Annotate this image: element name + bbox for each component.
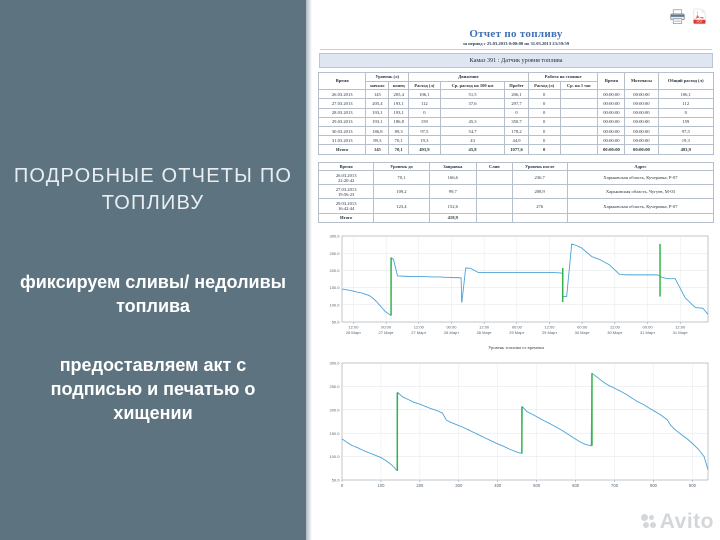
table-cell: 0 — [528, 126, 560, 135]
table-cell — [374, 213, 429, 222]
table-cell — [560, 90, 598, 99]
col-idle-time: Время — [598, 73, 625, 90]
table-cell: 29.03.201316:42:44 — [319, 199, 374, 213]
col-2: конец — [389, 81, 409, 90]
table-row: 27.03.2013205,4193,111237,6297,7000:00:0… — [319, 99, 714, 108]
svg-text:700: 700 — [611, 483, 619, 488]
table-cell: 97,5 — [408, 126, 440, 135]
svg-text:400: 400 — [494, 483, 502, 488]
svg-text:12:00: 12:00 — [675, 324, 686, 329]
svg-text:00:00: 00:00 — [446, 324, 457, 329]
table-cell: 51,5 — [440, 90, 505, 99]
table-cell: Харьковская область, Чугуев, М-03 — [567, 185, 713, 199]
table-cell: 152,6 — [429, 199, 476, 213]
table-cell — [476, 185, 512, 199]
column-header: Заправка — [429, 162, 476, 171]
table-cell: 106,1 — [658, 90, 713, 99]
table-cell: Харьковская область, Кучеровка, Р-07 — [567, 171, 713, 185]
refuel-events-table: ВремяУровень доЗаправкаСливУровень после… — [318, 162, 714, 223]
table-cell: 0 — [505, 108, 528, 117]
table-cell — [560, 108, 598, 117]
table-head: ВремяУровень доЗаправкаСливУровень после… — [319, 162, 714, 171]
table-cell: 70,1 — [389, 136, 409, 145]
table-cell: 44,9 — [505, 136, 528, 145]
table-cell: 112 — [658, 99, 713, 108]
svg-text:PDF: PDF — [697, 19, 703, 23]
svg-text:900: 900 — [689, 483, 697, 488]
table-cell: 166,6 — [429, 171, 476, 185]
fuel-level-time-chart: 50.0100.0150.0200.0250.0300.012:0026 Мар… — [318, 232, 714, 350]
svg-text:27 Март: 27 Март — [411, 330, 426, 335]
table-cell — [560, 145, 598, 154]
table-cell: 0 — [528, 108, 560, 117]
table-cell — [560, 126, 598, 135]
svg-text:500: 500 — [533, 483, 541, 488]
table-body: 26.03.2013145205,4106,151,5206,1000:00:0… — [319, 90, 714, 154]
promo-heading: ПОДРОБНЫЕ ОТЧЕТЫ ПО ТОПЛИВУ — [8, 163, 298, 217]
svg-text:30 Март: 30 Март — [607, 330, 622, 335]
table-cell: 28.03.2013 — [319, 108, 366, 117]
table-cell: 0 — [408, 108, 440, 117]
svg-text:150.0: 150.0 — [329, 285, 340, 290]
table-cell: 297,7 — [505, 99, 528, 108]
table-cell: 493,9 — [658, 145, 713, 154]
svg-text:300.0: 300.0 — [329, 233, 340, 238]
table-cell — [476, 199, 512, 213]
svg-text:26 Март: 26 Март — [346, 330, 361, 335]
table-cell: 00:00:00 — [598, 117, 625, 126]
svg-text:28 Март: 28 Март — [444, 330, 459, 335]
table-cell: 70,1 — [389, 145, 409, 154]
column-header: Слив — [476, 162, 512, 171]
table-cell: 89,3 — [366, 136, 389, 145]
table-row: 31.03.201389,370,119,34344,9000:00:0000:… — [319, 136, 714, 145]
table-cell: 493,9 — [408, 145, 440, 154]
table-cell: 0 — [658, 108, 713, 117]
svg-text:200.0: 200.0 — [329, 268, 340, 273]
table-row: 28.03.2013193,1193,100000:00:0000:00:000 — [319, 108, 714, 117]
table-cell — [560, 99, 598, 108]
table-cell — [476, 213, 512, 222]
svg-text:27 Март: 27 Март — [379, 330, 394, 335]
svg-text:28 Март: 28 Март — [477, 330, 492, 335]
table-cell: 19,3 — [658, 136, 713, 145]
table-cell — [567, 213, 713, 222]
svg-text:00:00: 00:00 — [512, 324, 523, 329]
table-cell: 00:00:00 — [625, 117, 658, 126]
printer-icon[interactable] — [669, 8, 686, 25]
table-cell: 193,1 — [389, 108, 409, 117]
table-cell: 99,7 — [429, 185, 476, 199]
promo-panel: ПОДРОБНЫЕ ОТЧЕТЫ ПО ТОПЛИВУ фиксируем сл… — [0, 0, 306, 540]
table-cell: 350,7 — [505, 117, 528, 126]
svg-text:250.0: 250.0 — [329, 384, 340, 389]
table-cell: 89,3 — [389, 126, 409, 135]
table-cell: 205,4 — [389, 90, 409, 99]
svg-text:00:00: 00:00 — [381, 324, 392, 329]
table-cell: 159 — [658, 117, 713, 126]
table-cell: 29.03.2013 — [319, 117, 366, 126]
column-header-row: ВремяУровень доЗаправкаСливУровень после… — [319, 162, 714, 171]
table-cell: 27.03.2013 — [319, 99, 366, 108]
vehicle-band: Камаз 391 : Датчик уровня топлива — [319, 53, 713, 68]
promo-line-act: предоставляем акт с подписью и печатью о… — [13, 353, 293, 425]
table-cell: 276 — [512, 199, 567, 213]
svg-text:00:00: 00:00 — [577, 324, 588, 329]
col-time: Время — [319, 73, 366, 90]
table-cell: 106,1 — [408, 90, 440, 99]
svg-text:30 Март: 30 Март — [575, 330, 590, 335]
table-cell: 193,1 — [389, 99, 409, 108]
table-cell: 418,9 — [429, 213, 476, 222]
report-panel: PDF Отчет по топливу за период с 25.03.2… — [312, 0, 720, 540]
table-cell: 193,1 — [366, 117, 389, 126]
svg-text:300: 300 — [455, 483, 463, 488]
svg-text:100.0: 100.0 — [329, 302, 340, 307]
table-cell: Итого — [319, 213, 374, 222]
table-cell: 00:00:00 — [625, 108, 658, 117]
table-cell: Итого — [319, 145, 366, 154]
column-header: Время — [319, 162, 374, 171]
table-cell: 70,1 — [374, 171, 429, 185]
table-cell: 00:00:00 — [598, 108, 625, 117]
chart-canvas: 50.0100.0150.0200.0250.0300.012:0026 Мар… — [318, 232, 714, 344]
table-cell: 00:00:00 — [625, 99, 658, 108]
table-cell: 30.03.2013 — [319, 126, 366, 135]
table-cell: 145 — [366, 145, 389, 154]
svg-text:12:00: 12:00 — [348, 324, 359, 329]
table-cell: 27.03.201319:56:23 — [319, 185, 374, 199]
svg-text:800: 800 — [650, 483, 658, 488]
chart-canvas: 50.0100.0150.0200.0250.0300.001002003004… — [318, 359, 714, 494]
table-cell: 0 — [528, 117, 560, 126]
fuel-level-distance-chart: 50.0100.0150.0200.0250.0300.001002003004… — [318, 359, 714, 494]
table-row: 30.03.2013186,889,397,554,7178,2000:00:0… — [319, 126, 714, 135]
col-total-consumption: Общий расход (л) — [658, 73, 713, 90]
svg-text:29 Март: 29 Март — [542, 330, 557, 335]
svg-text:0: 0 — [341, 483, 344, 488]
table-cell — [512, 213, 567, 222]
report-subtitle: за период с 25.03.2013 0:00:00 по 31.03.… — [318, 41, 714, 46]
table-cell: 43 — [440, 136, 505, 145]
table-cell: Харьковская область, Кучеровка, Р-07 — [567, 199, 713, 213]
report-title: Отчет по топливу — [318, 28, 714, 40]
table-cell: 193,1 — [366, 108, 389, 117]
table-row: 27.03.201319:56:23109,299,7208,9Харьковс… — [319, 185, 714, 199]
table-cell: 00:00:00 — [598, 136, 625, 145]
svg-text:300.0: 300.0 — [329, 360, 340, 365]
table-cell: 0 — [528, 136, 560, 145]
table-cell: 206,1 — [505, 90, 528, 99]
group-idle: Работа на стоянке — [528, 73, 598, 82]
table-cell: 109,2 — [374, 185, 429, 199]
table-cell: 0 — [528, 145, 560, 154]
group-header-row: ВремяУровень (л)ДвижениеРабота на стоянк… — [319, 73, 714, 82]
table-body: 26.03.201322:20:4270,1166,6236,7Харьковс… — [319, 171, 714, 223]
table-cell: 145 — [366, 90, 389, 99]
table-cell: 123,4 — [374, 199, 429, 213]
svg-text:200: 200 — [416, 483, 424, 488]
svg-text:12:00: 12:00 — [545, 324, 556, 329]
table-cell: 159 — [408, 117, 440, 126]
table-cell: 1077,6 — [505, 145, 528, 154]
table-cell: 26.03.201322:20:42 — [319, 171, 374, 185]
table-cell: 54,7 — [440, 126, 505, 135]
table-cell: 186,8 — [389, 117, 409, 126]
svg-text:150.0: 150.0 — [329, 431, 340, 436]
svg-text:00:00: 00:00 — [643, 324, 654, 329]
slide-root: ПОДРОБНЫЕ ОТЧЕТЫ ПО ТОПЛИВУ фиксируем сл… — [0, 0, 720, 540]
table-cell: 00:00:00 — [598, 99, 625, 108]
report-rule — [320, 49, 712, 50]
svg-text:31 Март: 31 Март — [640, 330, 655, 335]
table-cell — [476, 171, 512, 185]
refuel-table-wrap: ВремяУровень доЗаправкаСливУровень после… — [318, 162, 714, 223]
table-cell — [560, 136, 598, 145]
table-cell: 00:00:00 — [625, 145, 658, 154]
col-7: Ср. на 1 час — [560, 81, 598, 90]
table-cell: 178,2 — [505, 126, 528, 135]
table-cell: 31.03.2013 — [319, 136, 366, 145]
table-cell: 26.03.2013 — [319, 90, 366, 99]
svg-text:12:00: 12:00 — [414, 324, 425, 329]
svg-text:250.0: 250.0 — [329, 251, 340, 256]
table-row: 29.03.201316:42:44123,4152,6276Харьковск… — [319, 199, 714, 213]
table-cell: 112 — [408, 99, 440, 108]
table-head: ВремяУровень (л)ДвижениеРабота на стоянк… — [319, 73, 714, 90]
svg-text:100.0: 100.0 — [329, 454, 340, 459]
svg-text:200.0: 200.0 — [329, 407, 340, 412]
column-header: Уровень до — [374, 162, 429, 171]
col-5: Пробег — [505, 81, 528, 90]
table-cell: 236,7 — [512, 171, 567, 185]
table-cell: 97,5 — [658, 126, 713, 135]
table-cell: 00:00:00 — [625, 136, 658, 145]
svg-text:31 Март: 31 Март — [673, 330, 688, 335]
table-total-row: Итого418,9 — [319, 213, 714, 222]
table-cell: 00:00:00 — [625, 90, 658, 99]
table-cell: 0 — [528, 90, 560, 99]
col-motohours: Моточасы — [625, 73, 658, 90]
col-1: начало — [366, 81, 389, 90]
table-row: 26.03.201322:20:4270,1166,6236,7Харьковс… — [319, 171, 714, 185]
table-cell: 00:00:00 — [625, 126, 658, 135]
group-movement: Движение — [408, 73, 528, 82]
svg-text:29 Март: 29 Март — [509, 330, 524, 335]
table-row: 26.03.2013145205,4106,151,5206,1000:00:0… — [319, 90, 714, 99]
column-header: Уровень после — [512, 162, 567, 171]
table-cell — [440, 108, 505, 117]
table-cell: 186,8 — [366, 126, 389, 135]
table-cell: 00:00:00 — [598, 145, 625, 154]
table-cell: 19,3 — [408, 136, 440, 145]
table-cell: 208,9 — [512, 185, 567, 199]
svg-text:600: 600 — [572, 483, 580, 488]
column-header: Адрес — [567, 162, 713, 171]
pdf-icon[interactable]: PDF — [691, 8, 708, 25]
svg-text:50.0: 50.0 — [332, 477, 341, 482]
promo-line-drains: фиксируем сливы/ недоливы топлива — [13, 270, 293, 318]
report-toolbar: PDF — [318, 4, 714, 28]
col-4: Ср. расход на 100 км — [440, 81, 505, 90]
svg-text:100: 100 — [377, 483, 385, 488]
group-level: Уровень (л) — [366, 73, 409, 82]
table-cell: 45,3 — [440, 117, 505, 126]
svg-text:12:00: 12:00 — [610, 324, 621, 329]
table-cell — [560, 117, 598, 126]
col-6: Расход (л) — [528, 81, 560, 90]
table-cell: 37,6 — [440, 99, 505, 108]
table-cell: 45,8 — [440, 145, 505, 154]
svg-text:12:00: 12:00 — [479, 324, 490, 329]
table-cell: 205,4 — [366, 99, 389, 108]
table-cell: 00:00:00 — [598, 126, 625, 135]
table-cell: 00:00:00 — [598, 90, 625, 99]
chart1-caption: Уровень топлива от времени — [318, 345, 714, 350]
table-cell: 0 — [528, 99, 560, 108]
table-row: 29.03.2013193,1186,815945,3350,7000:00:0… — [319, 117, 714, 126]
svg-text:50.0: 50.0 — [332, 319, 341, 324]
fuel-summary-table: ВремяУровень (л)ДвижениеРабота на стоянк… — [318, 72, 714, 155]
table-total-row: Итого14570,1493,945,81077,6000:00:0000:0… — [319, 145, 714, 154]
col-3: Расход (л) — [408, 81, 440, 90]
